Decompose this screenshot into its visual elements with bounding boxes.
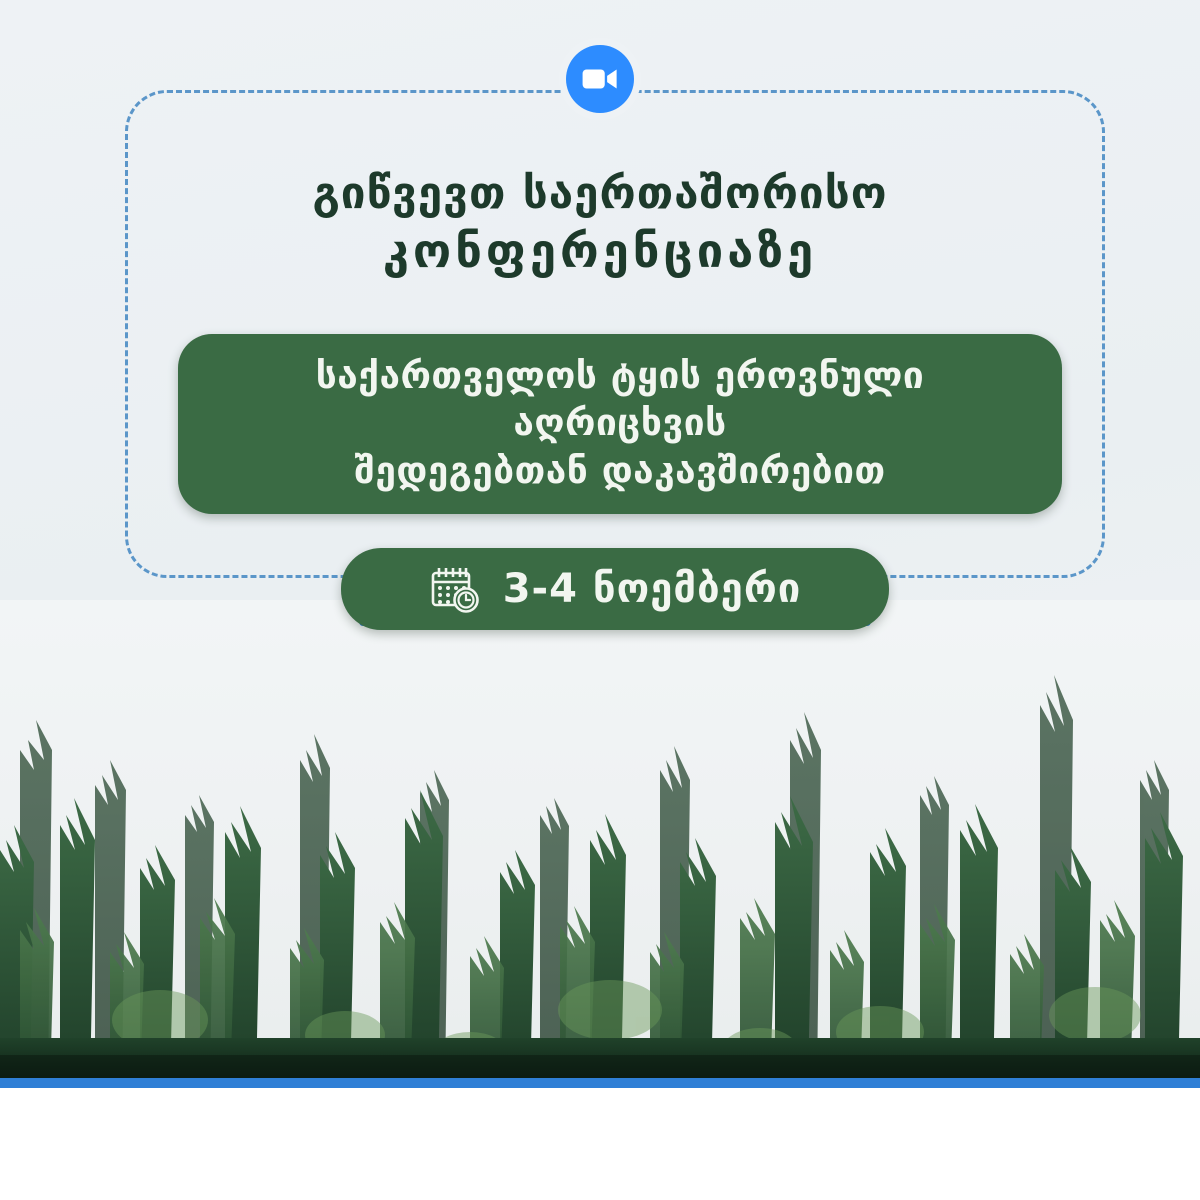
headline-line-2: კონფერენციაზე [150,224,1050,279]
footer-divider-bar [0,1078,1200,1088]
subtitle-line-2: შედეგებთან დაკავშირებით [206,447,1034,494]
conference-invitation-poster: გიწვევთ საერთაშორისო კონფერენციაზე საქარ… [0,0,1200,1200]
subtitle-banner: საქართველოს ტყის ეროვნული აღრიცხვის შედე… [178,334,1062,514]
date-badge-body: 3-4 ნოემბერი [341,548,889,630]
date-badge: 3-4 ნოემბერი [341,548,889,630]
date-text: 3-4 ნოემბერი [503,566,802,612]
calendar-clock-icon [429,564,481,614]
forest-photo [0,600,1200,1085]
subtitle-line-1: საქართველოს ტყის ეროვნული აღრიცხვის [206,352,1034,447]
page-title: გიწვევთ საერთაშორისო კონფერენციაზე [0,168,1200,279]
footer-bar: german cooperation DEUTSCHE ZUSAMMENARBE… [0,1088,1200,1200]
zoom-video-camera-icon [566,45,634,113]
headline-line-1: გიწვევთ საერთაშორისო [150,168,1050,220]
subtitle-banner-body: საქართველოს ტყის ეროვნული აღრიცხვის შედე… [178,334,1062,514]
